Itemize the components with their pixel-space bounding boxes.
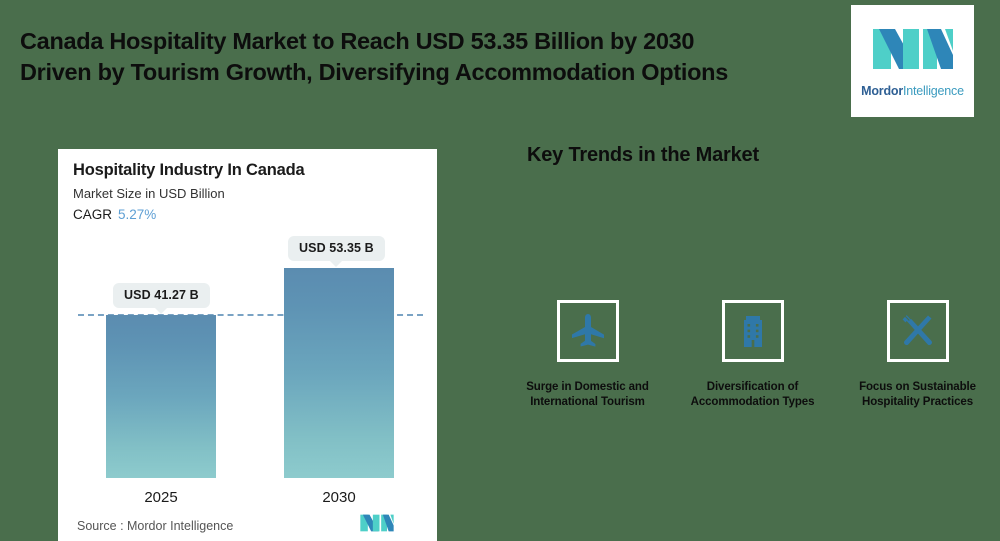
bar-chart-plot: USD 41.27 B USD 53.35 B 2025 2030 (58, 149, 437, 541)
brand-wordmark: MordorIntelligence (861, 84, 964, 98)
airplane-icon (568, 311, 608, 351)
source-mordor-logo-icon (359, 513, 395, 533)
brand-logo-card: MordorIntelligence (851, 5, 974, 117)
bar-value-label-2025: USD 41.27 B (113, 283, 210, 308)
mordor-intelligence-logo-icon (871, 25, 955, 73)
page-header: Canada Hospitality Market to Reach USD 5… (0, 0, 1000, 122)
trend-item-accommodation: Diversification of Accommodation Types (670, 300, 835, 410)
x-axis-label-2030: 2030 (284, 489, 394, 506)
page-title: Canada Hospitality Market to Reach USD 5… (20, 26, 820, 88)
trend-item-sustainability: Focus on Sustainable Hospitality Practic… (835, 300, 1000, 410)
trend-icon-box-accommodation (722, 300, 784, 362)
brand-word-intelligence: Intelligence (903, 84, 964, 98)
key-trends-heading: Key Trends in the Market (527, 144, 759, 167)
page-title-line-2: Driven by Tourism Growth, Diversifying A… (20, 57, 820, 88)
trend-label-tourism: Surge in Domestic and International Tour… (513, 380, 663, 410)
trend-item-tourism: Surge in Domestic and International Tour… (505, 300, 670, 410)
chart-card: Hospitality Industry In Canada Market Si… (58, 149, 437, 541)
trend-icon-box-sustainability (887, 300, 949, 362)
trend-label-accommodation: Diversification of Accommodation Types (678, 380, 828, 410)
chart-source: Source : Mordor Intelligence (77, 519, 233, 533)
brand-word-mordor: Mordor (861, 84, 903, 98)
key-trends-list: Surge in Domestic and International Tour… (505, 300, 1000, 410)
fork-knife-icon (898, 311, 938, 351)
bar-2025 (106, 315, 216, 478)
page-title-line-1: Canada Hospitality Market to Reach USD 5… (20, 28, 694, 54)
bar-value-label-2030: USD 53.35 B (288, 236, 385, 261)
building-icon (733, 311, 773, 351)
trend-icon-box-tourism (557, 300, 619, 362)
x-axis-label-2025: 2025 (106, 489, 216, 506)
bar-2030 (284, 268, 394, 478)
trend-label-sustainability: Focus on Sustainable Hospitality Practic… (843, 380, 993, 410)
